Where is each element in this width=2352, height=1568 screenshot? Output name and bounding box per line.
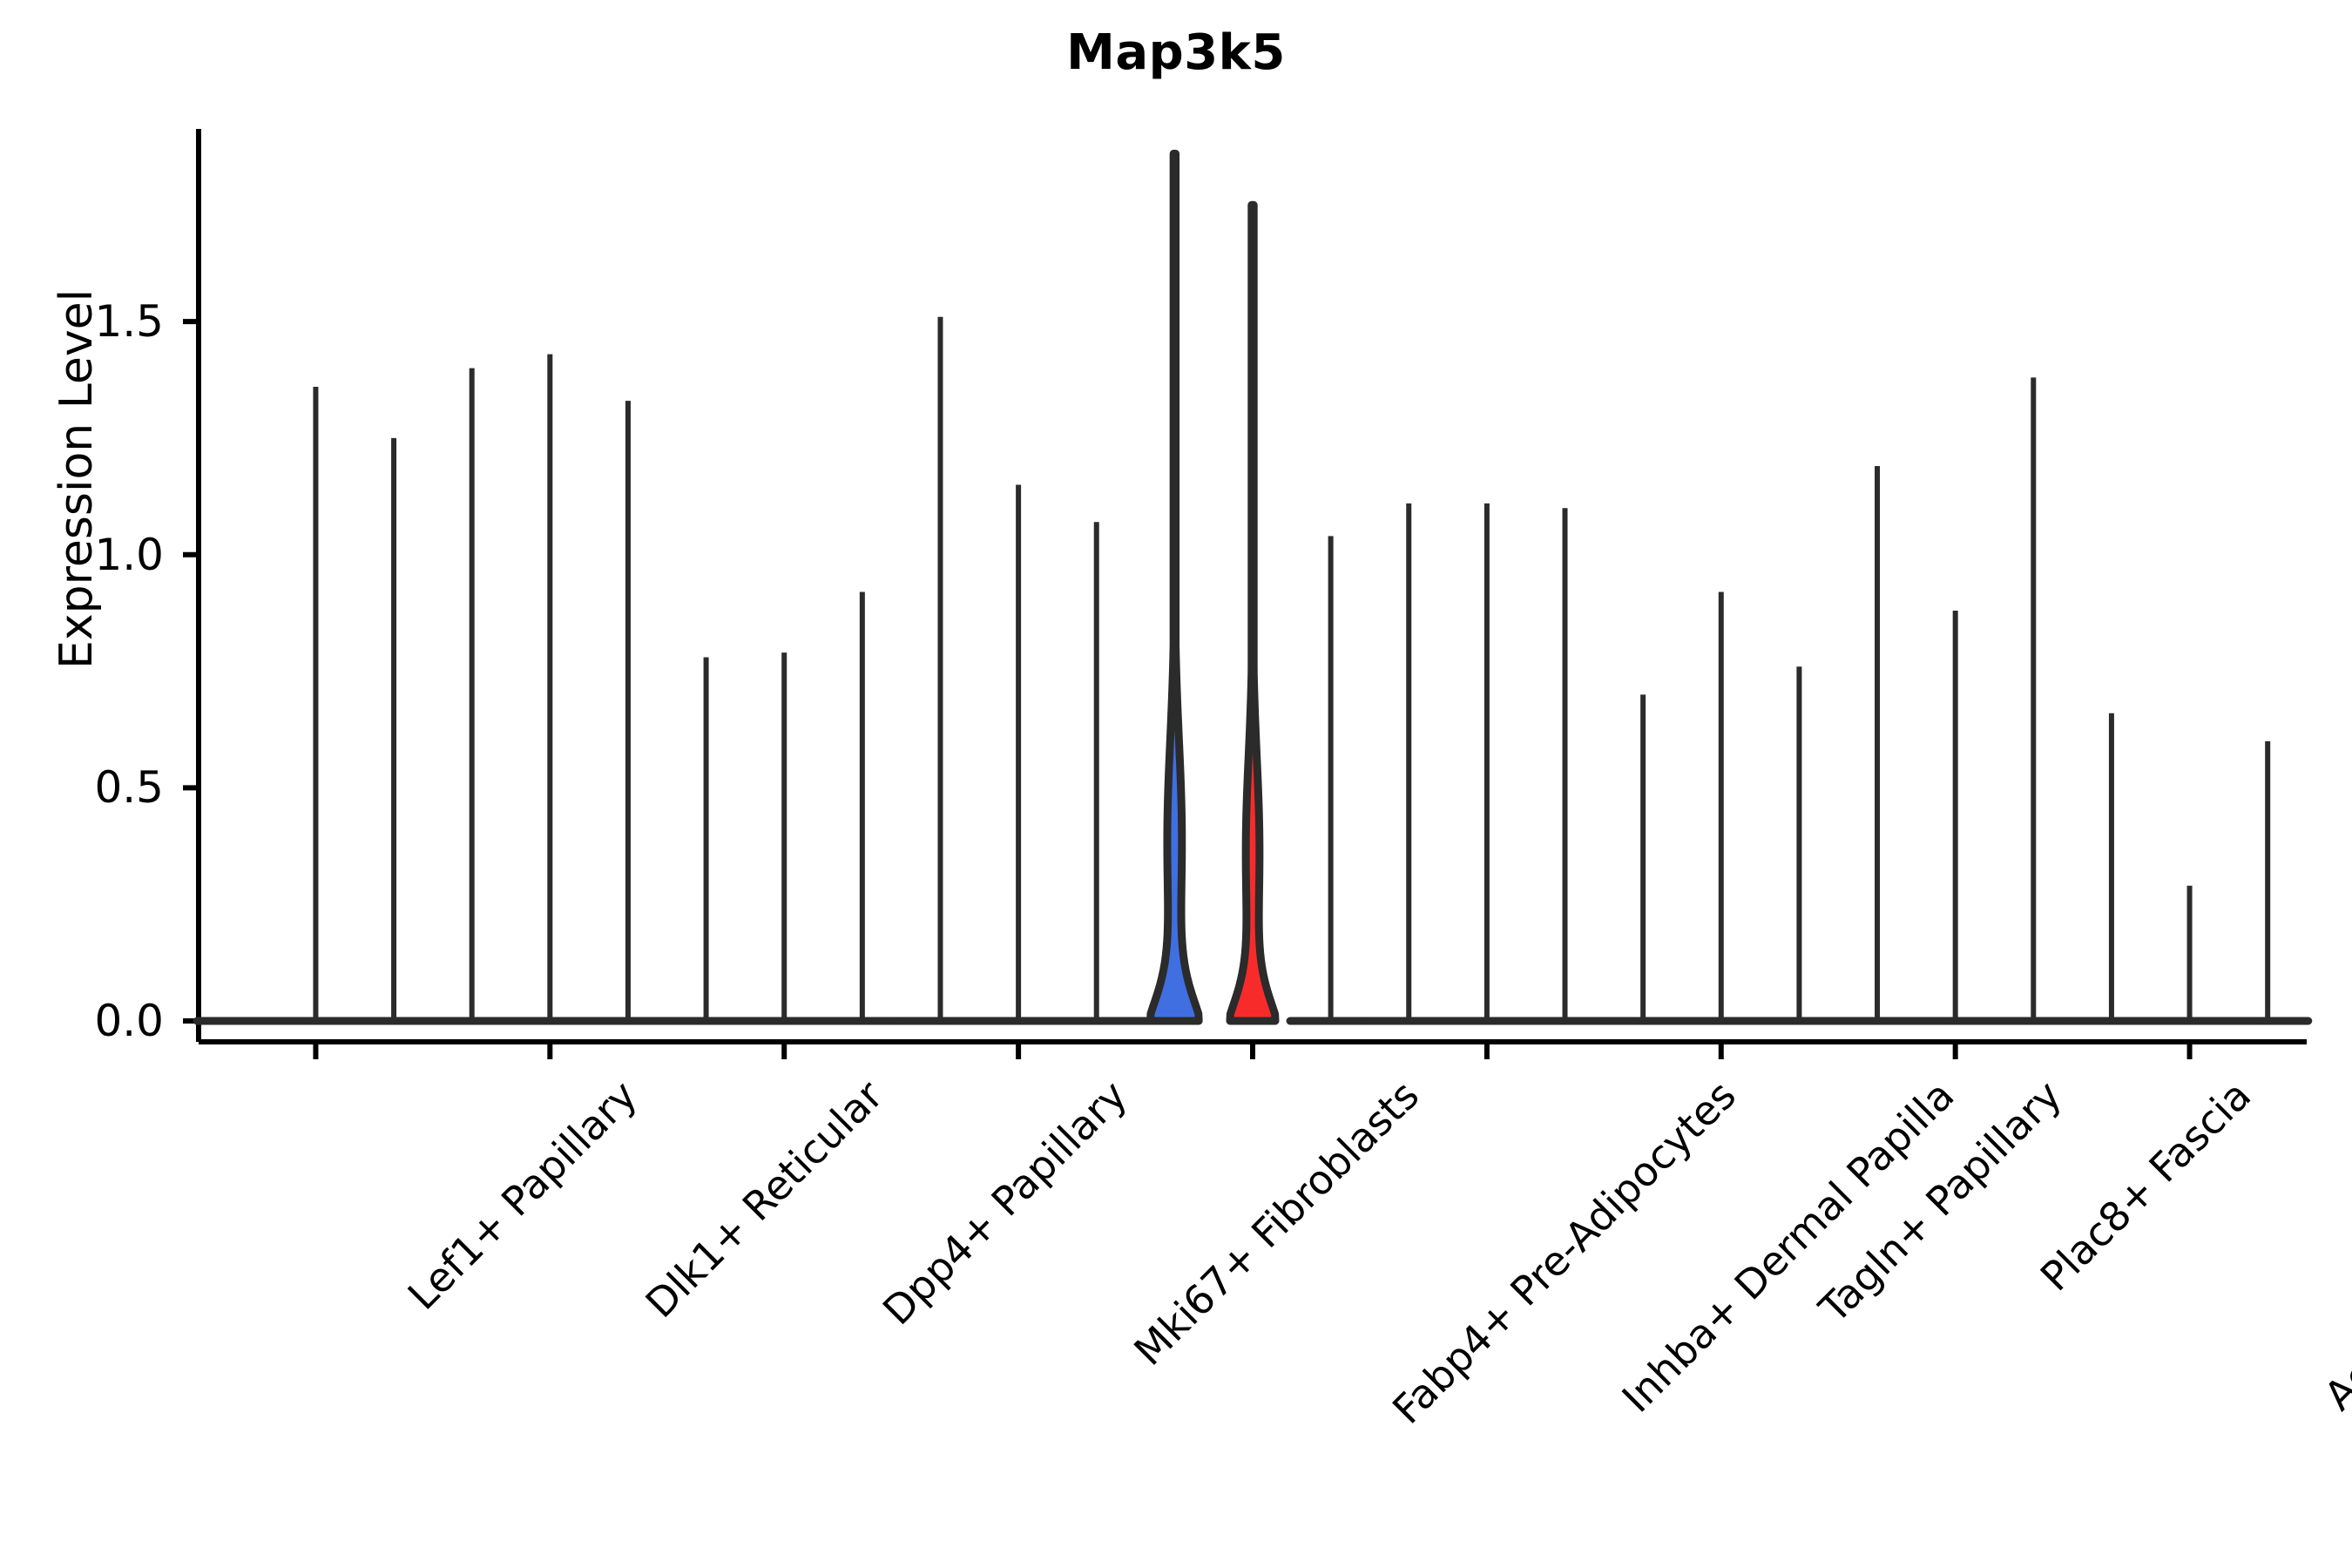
violin-4-0 xyxy=(1151,153,1200,1021)
violin-4-1 xyxy=(1230,205,1275,1021)
violin-plot-figure: Map3k5 Expression Level 0.00.51.01.5 Lef… xyxy=(0,0,2352,1568)
y-tick-label: 0.5 xyxy=(33,762,164,813)
y-tick-label: 0.0 xyxy=(33,996,164,1046)
y-tick-label: 1.5 xyxy=(33,296,164,347)
y-tick-label: 1.0 xyxy=(33,530,164,580)
violin-series xyxy=(315,153,2268,1021)
